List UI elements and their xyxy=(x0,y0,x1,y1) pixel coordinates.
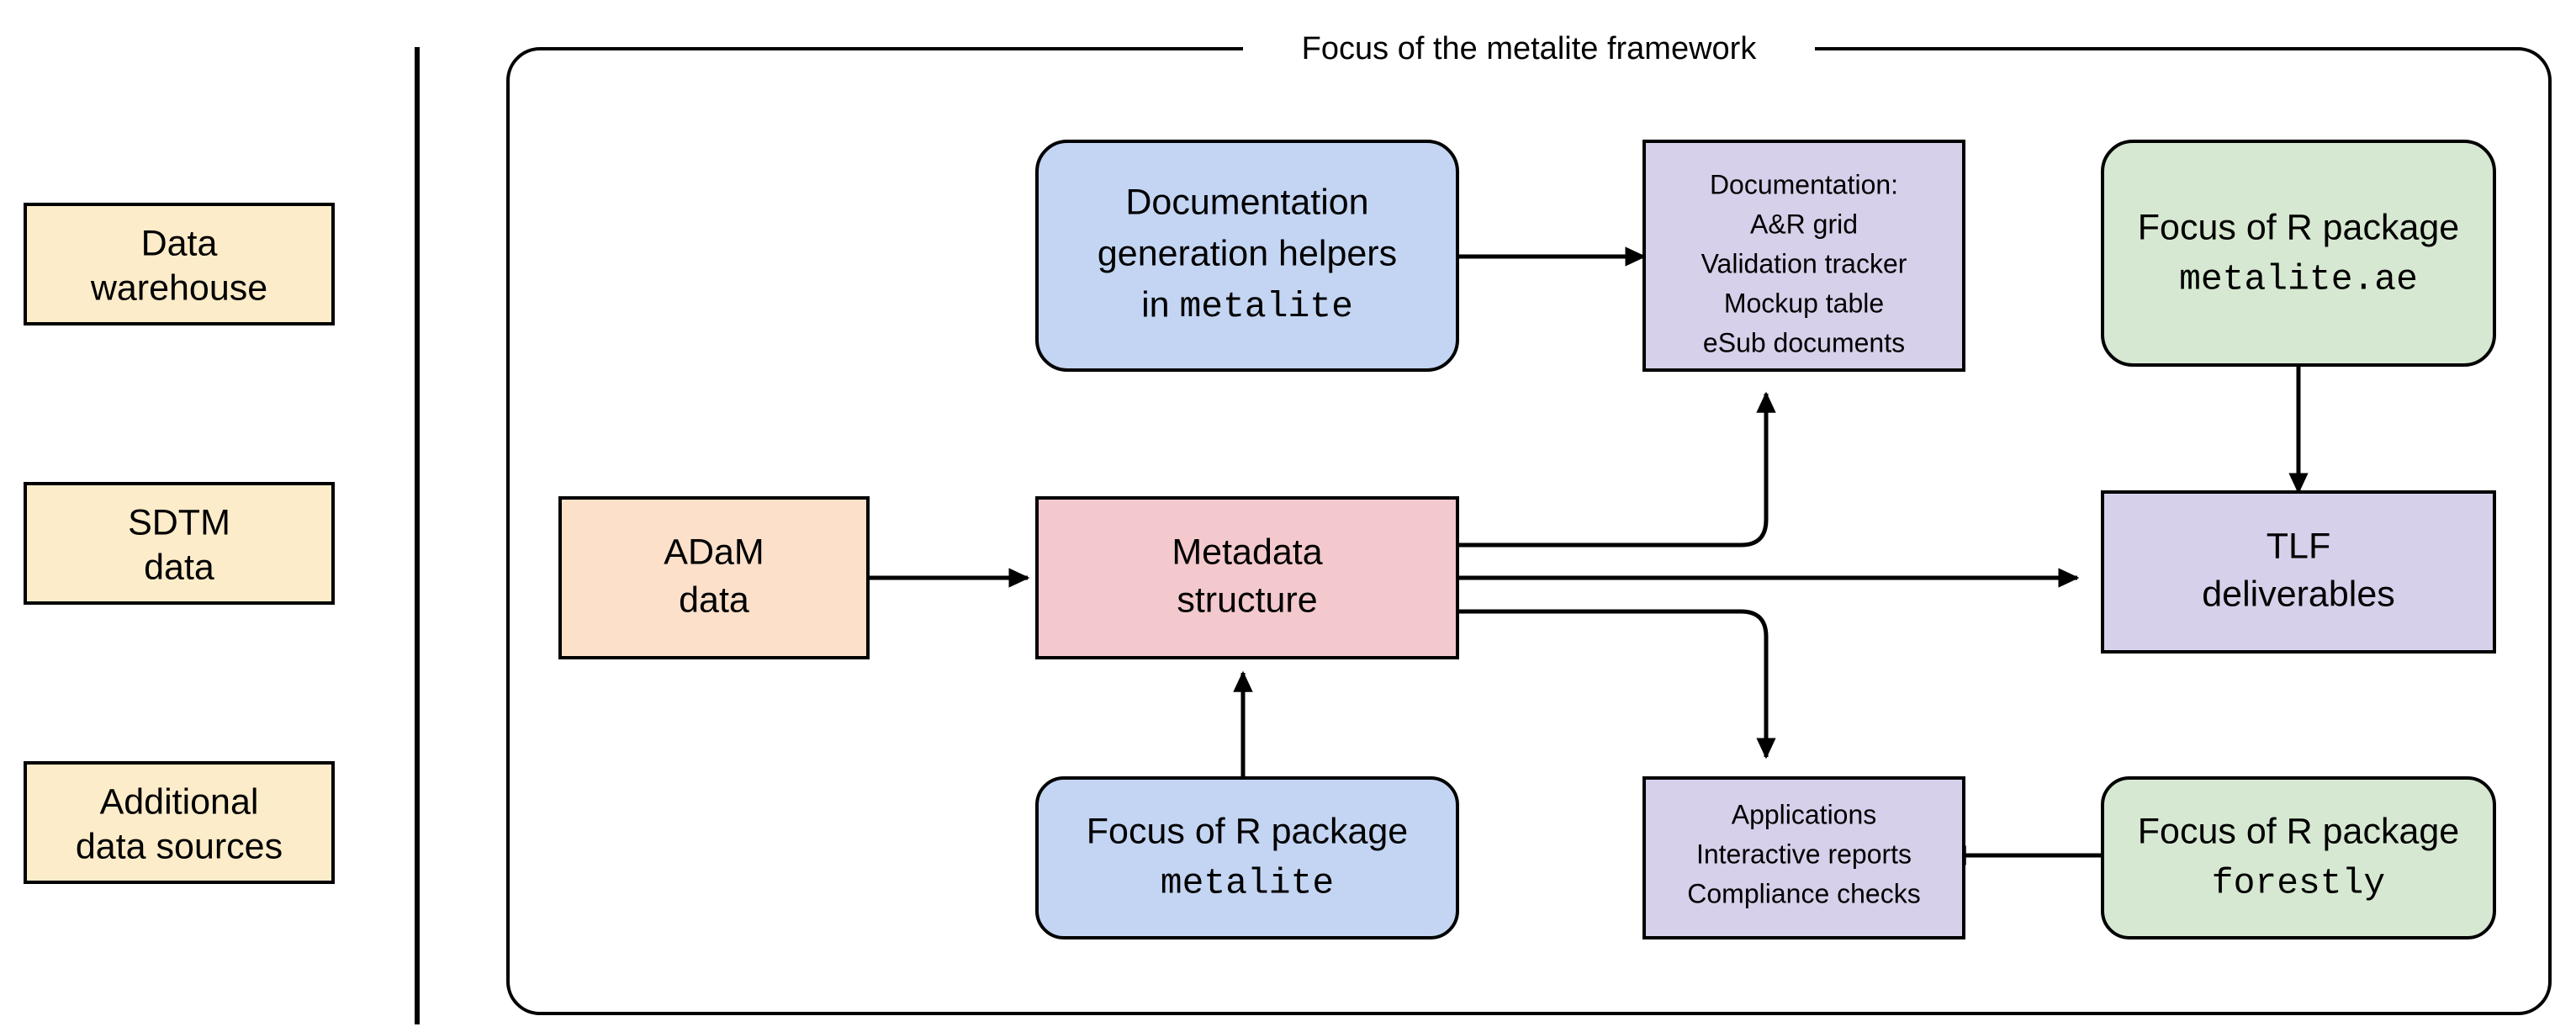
focus-metalite-package-name: metalite xyxy=(1161,862,1334,903)
data-warehouse-label-line2: warehouse xyxy=(90,267,267,308)
data-warehouse-label-line1: Data xyxy=(141,223,218,263)
node-additional-data-sources[interactable]: Additional data sources xyxy=(25,763,333,882)
edge-metadata-to-applications xyxy=(1457,611,1766,757)
adam-data-label-line2: data xyxy=(679,580,749,620)
applications-label-line2: Interactive reports xyxy=(1696,839,1912,869)
documentation-label-line1: Documentation: xyxy=(1710,169,1898,199)
tlf-deliverables-box[interactable] xyxy=(2103,492,2494,652)
documentation-label-line4: Mockup table xyxy=(1724,288,1884,318)
focus-forestly-label-line1: Focus of R package xyxy=(2138,811,2459,851)
node-focus-r-package-forestly[interactable]: Focus of R package forestly xyxy=(2103,778,2494,938)
sdtm-data-label-line1: SDTM xyxy=(128,502,230,542)
node-documentation-generation-helpers[interactable]: Documentation generation helpers in meta… xyxy=(1037,141,1457,370)
doc-helpers-label-line3: in metalite xyxy=(1141,284,1353,327)
applications-label-line3: Compliance checks xyxy=(1687,878,1920,908)
node-focus-r-package-metalite[interactable]: Focus of R package metalite xyxy=(1037,778,1457,938)
diagram-canvas: Data warehouse SDTM data Additional data… xyxy=(0,0,2576,1032)
node-metadata-structure[interactable]: Metadata structure xyxy=(1037,498,1457,658)
tlf-deliverables-label-line2: deliverables xyxy=(2202,574,2394,614)
metadata-structure-label-line1: Metadata xyxy=(1172,532,1322,572)
metadata-structure-box[interactable] xyxy=(1037,498,1457,658)
focus-metalite-label-line1: Focus of R package xyxy=(1087,811,1408,851)
focus-forestly-box[interactable] xyxy=(2103,778,2494,938)
node-adam-data[interactable]: ADaM data xyxy=(560,498,868,658)
node-tlf-deliverables[interactable]: TLF deliverables xyxy=(2103,492,2494,652)
adam-data-label-line1: ADaM xyxy=(664,532,764,572)
documentation-label-line5: eSub documents xyxy=(1703,327,1905,357)
frame-title: Focus of the metalite framework xyxy=(1302,31,1758,66)
diagram-root: Data warehouse SDTM data Additional data… xyxy=(0,0,2576,1032)
focus-metalite-ae-label-line1: Focus of R package xyxy=(2138,207,2459,247)
focus-forestly-package-name: forestly xyxy=(2212,862,2385,903)
node-sdtm-data[interactable]: SDTM data xyxy=(25,484,333,603)
sdtm-data-label-line2: data xyxy=(144,547,214,587)
applications-label-line1: Applications xyxy=(1732,799,1877,829)
node-data-warehouse[interactable]: Data warehouse xyxy=(25,204,333,324)
doc-helpers-label-line1: Documentation xyxy=(1125,182,1368,222)
node-documentation-outputs[interactable]: Documentation: A&R grid Validation track… xyxy=(1644,141,1964,370)
focus-metalite-ae-package-name: metalite.ae xyxy=(2179,258,2418,299)
focus-metalite-ae-box[interactable] xyxy=(2103,141,2494,365)
tlf-deliverables-label-line1: TLF xyxy=(2267,526,2330,566)
adam-data-box[interactable] xyxy=(560,498,868,658)
node-applications-outputs[interactable]: Applications Interactive reports Complia… xyxy=(1644,778,1964,938)
metadata-structure-label-line2: structure xyxy=(1177,580,1317,620)
left-column-group: Data warehouse SDTM data Additional data… xyxy=(25,204,333,882)
additional-data-sources-label-line2: data sources xyxy=(76,826,283,866)
doc-helpers-package-name: metalite xyxy=(1179,286,1352,327)
edge-metadata-to-documentation xyxy=(1457,394,1766,545)
additional-data-sources-label-line1: Additional xyxy=(100,781,259,822)
documentation-label-line2: A&R grid xyxy=(1750,209,1858,239)
doc-helpers-label-line2: generation helpers xyxy=(1098,233,1397,273)
node-focus-r-package-metalite-ae[interactable]: Focus of R package metalite.ae xyxy=(2103,141,2494,365)
focus-metalite-box[interactable] xyxy=(1037,778,1457,938)
documentation-label-line3: Validation tracker xyxy=(1701,248,1907,278)
